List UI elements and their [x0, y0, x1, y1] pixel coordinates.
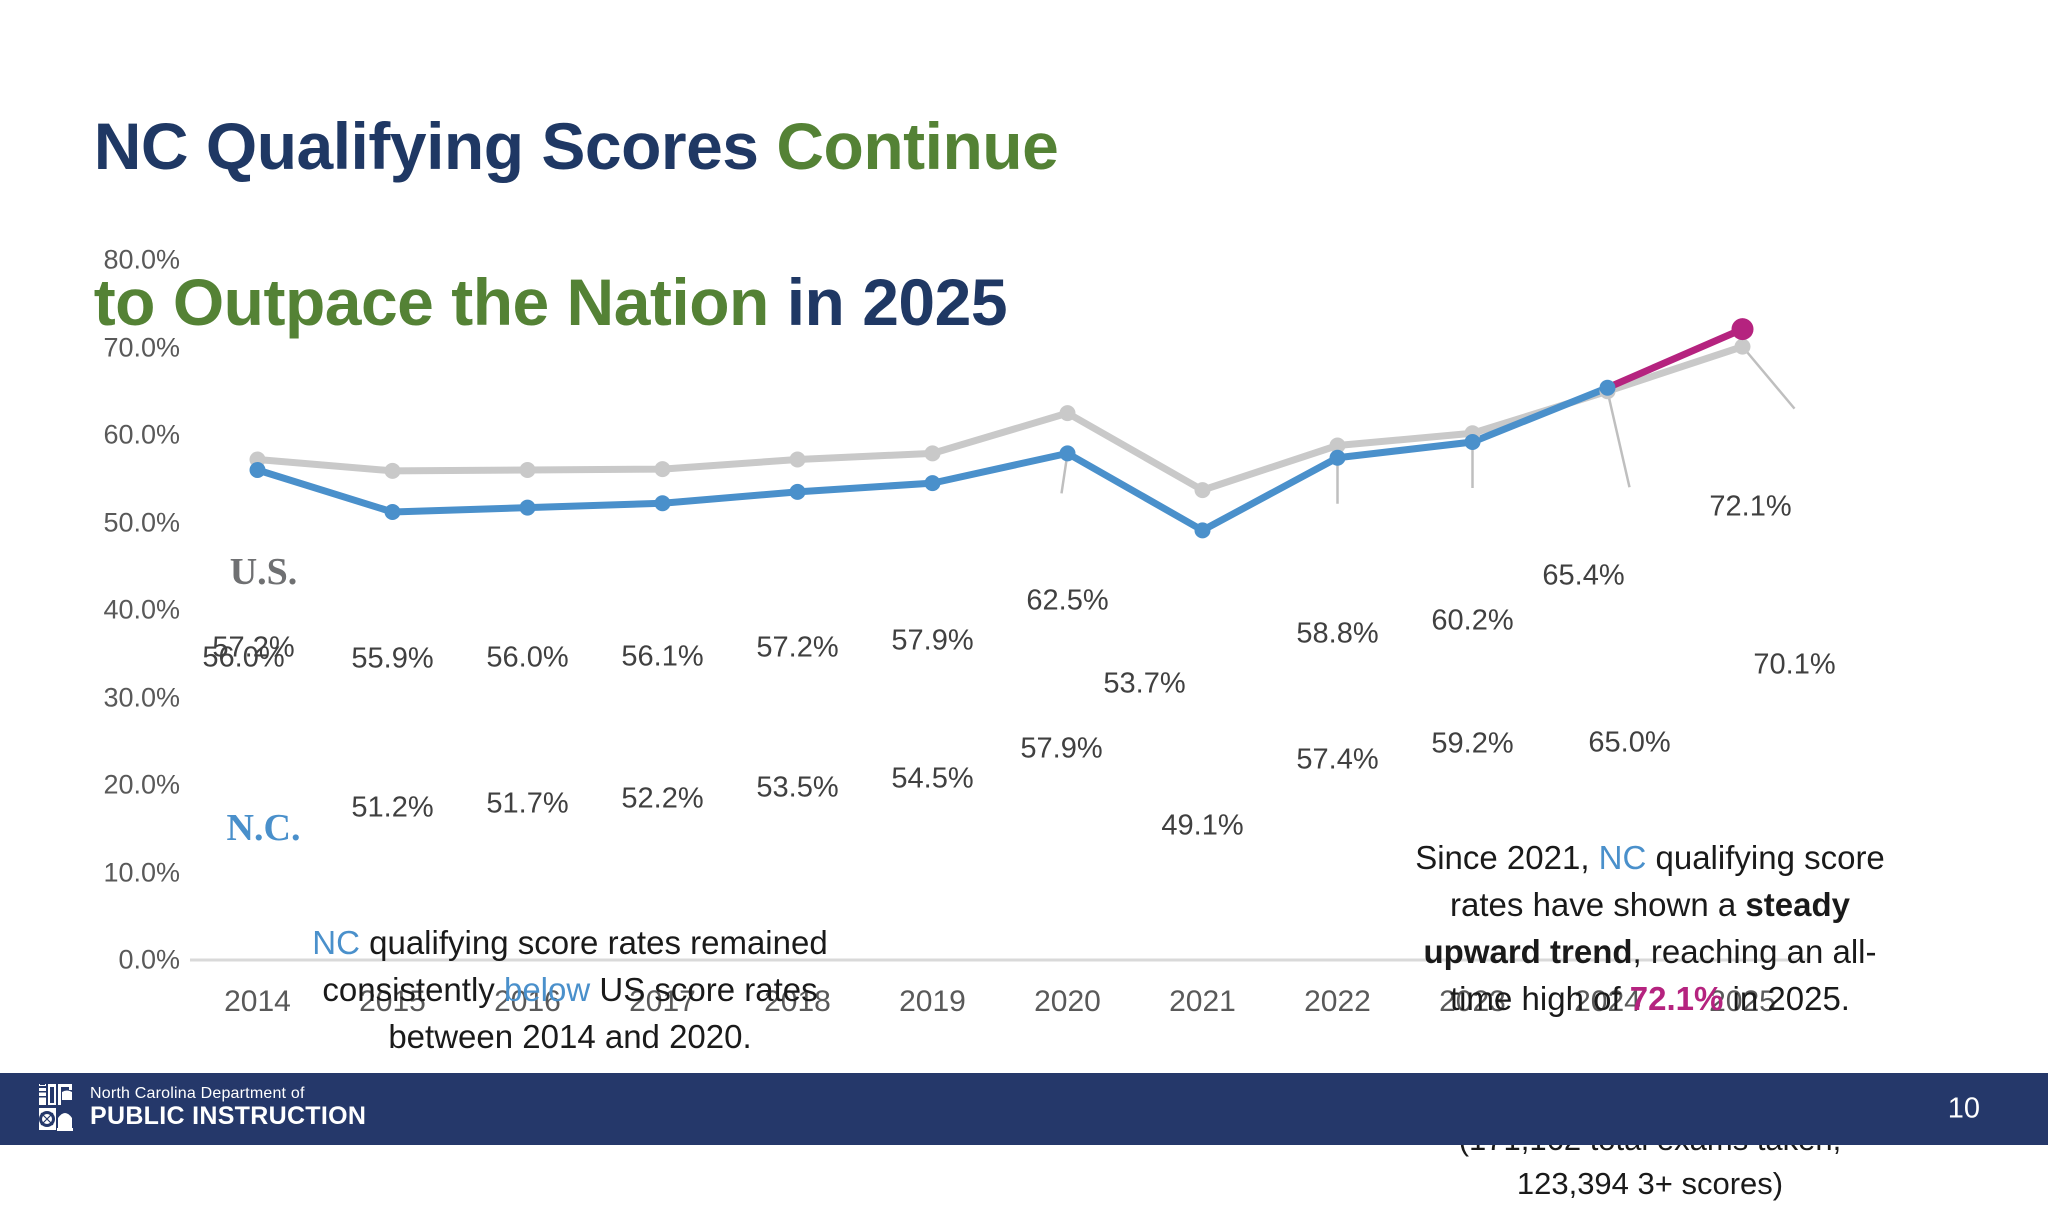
- x-axis-tick: 2020: [1034, 985, 1101, 1019]
- x-axis-tick: 2021: [1169, 985, 1236, 1019]
- y-axis-tick: 70.0%: [40, 332, 180, 363]
- x-axis-tick: 2022: [1304, 985, 1371, 1019]
- y-axis-tick: 60.0%: [40, 420, 180, 451]
- data-label: 56.1%: [621, 641, 703, 674]
- data-label: 72.1%: [1709, 491, 1791, 524]
- data-point: [1465, 434, 1481, 450]
- title-segment-2: Continue: [776, 109, 1058, 183]
- y-axis-tick: 50.0%: [40, 507, 180, 538]
- label-leader-line: [1608, 391, 1630, 487]
- data-point: [1735, 339, 1751, 355]
- series-name-label: N.C.: [227, 806, 301, 850]
- data-label: 53.5%: [756, 771, 838, 804]
- series-name-label: U.S.: [230, 550, 298, 594]
- y-axis-tick: 0.0%: [40, 945, 180, 976]
- y-axis-tick: 10.0%: [40, 857, 180, 888]
- callout-right-seg2: NC: [1599, 839, 1647, 876]
- data-label: 60.2%: [1431, 605, 1513, 638]
- data-label: 65.0%: [1588, 727, 1670, 760]
- data-label: 57.9%: [1020, 733, 1102, 766]
- y-axis-tick: 80.0%: [40, 245, 180, 276]
- data-point: [925, 445, 941, 461]
- callout-right-seg6: 72.1%: [1630, 980, 1724, 1017]
- ncdpi-logo-text: North Carolina Department of PUBLIC INST…: [90, 1085, 366, 1130]
- data-label: 55.9%: [351, 642, 433, 675]
- exam-counts-line2: 123,394 3+ scores): [1517, 1166, 1783, 1201]
- data-label: 65.4%: [1542, 559, 1624, 592]
- data-label: 49.1%: [1161, 810, 1243, 843]
- line-chart: 80.0%70.0%60.0%50.0%40.0%30.0%20.0%10.0%…: [0, 240, 2048, 1040]
- data-point: [1195, 522, 1211, 538]
- data-point: [655, 495, 671, 511]
- x-axis-tick: 2019: [899, 985, 966, 1019]
- x-axis-tick: 2014: [224, 985, 291, 1019]
- data-point: [790, 484, 806, 500]
- data-label: 59.2%: [1431, 728, 1513, 761]
- callout-right: Since 2021, NC qualifying score rates ha…: [1400, 835, 1900, 1022]
- title-segment-1: NC Qualifying Scores: [94, 109, 777, 183]
- data-point: [1060, 405, 1076, 421]
- data-point: [385, 463, 401, 479]
- data-label: 57.9%: [891, 625, 973, 658]
- data-label: 53.7%: [1103, 668, 1185, 701]
- data-point: [655, 461, 671, 477]
- data-label: 56.0%: [202, 642, 284, 675]
- data-label: 54.5%: [891, 763, 973, 796]
- data-label: 58.8%: [1296, 617, 1378, 650]
- callout-right-seg1: Since 2021,: [1415, 839, 1598, 876]
- data-point: [1330, 450, 1346, 466]
- data-point: [250, 462, 266, 478]
- data-label: 57.4%: [1296, 743, 1378, 776]
- y-axis: 80.0%70.0%60.0%50.0%40.0%30.0%20.0%10.0%…: [30, 260, 180, 960]
- data-point: [1600, 380, 1616, 396]
- ncdpi-logo: North Carolina Department of PUBLIC INST…: [38, 1082, 366, 1132]
- page-number: 10: [1948, 1093, 1980, 1126]
- y-axis-tick: 40.0%: [40, 595, 180, 626]
- ncdpi-seal-icon: [38, 1082, 80, 1132]
- y-axis-tick: 30.0%: [40, 682, 180, 713]
- label-leader-line: [1743, 347, 1795, 409]
- data-point: [520, 500, 536, 516]
- footer-bar: North Carolina Department of PUBLIC INST…: [0, 1073, 2048, 1145]
- series-line: [1608, 329, 1743, 388]
- footer-logo-line1: North Carolina Department of: [90, 1085, 366, 1103]
- footer-logo-line2: PUBLIC INSTRUCTION: [90, 1103, 366, 1129]
- data-point: [790, 452, 806, 468]
- data-point: [1195, 482, 1211, 498]
- data-label: 57.2%: [756, 631, 838, 664]
- data-point: [1060, 445, 1076, 461]
- data-point: [520, 462, 536, 478]
- callout-left-seg1: NC: [312, 924, 360, 961]
- callout-left: NC qualifying score rates remained consi…: [300, 920, 840, 1061]
- callout-right-seg7: in 2025.: [1723, 980, 1850, 1017]
- data-label: 70.1%: [1753, 648, 1835, 681]
- y-axis-tick: 20.0%: [40, 770, 180, 801]
- data-point: [385, 504, 401, 520]
- callout-left-seg3: below: [504, 971, 590, 1008]
- data-label: 62.5%: [1026, 585, 1108, 618]
- data-label: 56.0%: [486, 642, 568, 675]
- data-label: 51.7%: [486, 787, 568, 820]
- data-point: [1732, 318, 1754, 340]
- data-point: [925, 475, 941, 491]
- data-label: 52.2%: [621, 783, 703, 816]
- data-label: 51.2%: [351, 792, 433, 825]
